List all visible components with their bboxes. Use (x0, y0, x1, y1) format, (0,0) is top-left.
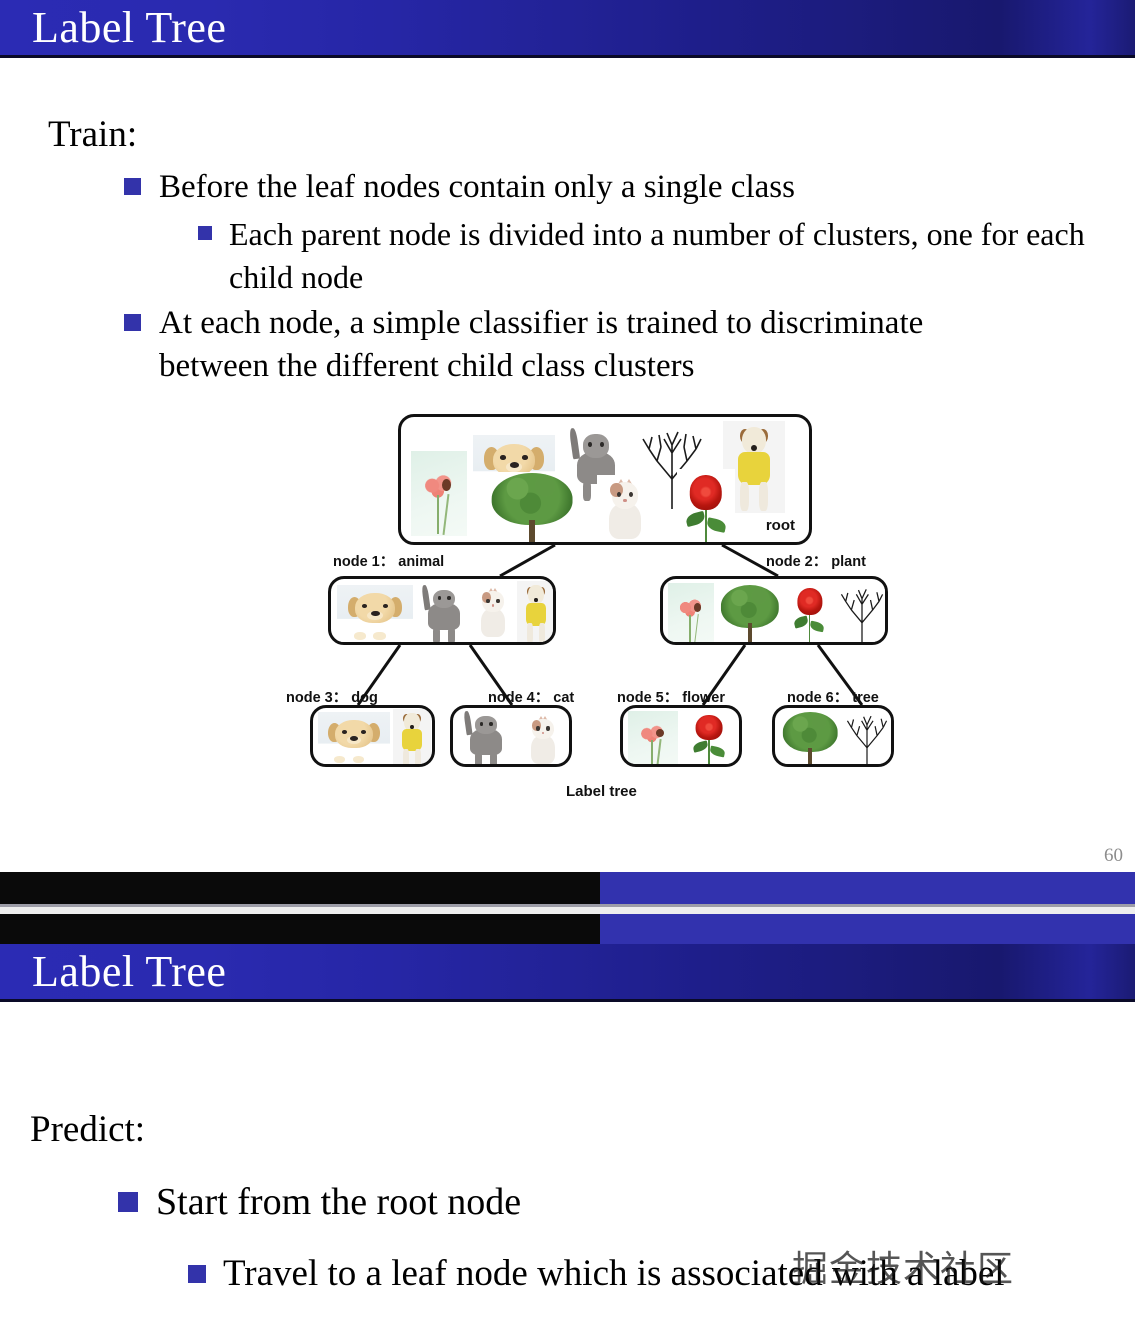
node-label-node3: node 3： dog (286, 686, 378, 707)
thumb-dog-yellow (393, 709, 431, 767)
slide-header-2: Label Tree (0, 944, 1135, 1002)
tree-node-root[interactable]: root (398, 414, 812, 545)
thumb-rose (685, 710, 733, 767)
thumb-dog (318, 712, 390, 766)
node-label-node6: node 6： tree (787, 686, 879, 707)
thumb-cat-white (521, 713, 565, 767)
tree-node-node1[interactable] (328, 576, 556, 645)
page-title: Label Tree (32, 0, 226, 56)
bullet-square-icon (198, 226, 212, 240)
thumb-green-tree (719, 584, 781, 643)
thumb-bare-tree (843, 710, 891, 767)
divider-blue-segment (600, 914, 1135, 945)
thumb-bare-tree (837, 583, 887, 644)
thumb-cat-grey (419, 582, 469, 645)
bullet-text: At each node, a simple classifier is tra… (159, 302, 1024, 388)
tree-node-node3[interactable] (310, 705, 435, 767)
bullet-text: Each parent node is divided into a numbe… (229, 213, 1128, 299)
thumb-dog (337, 585, 413, 643)
tree-node-node4[interactable] (450, 705, 572, 767)
thumb-cat-white (471, 585, 515, 642)
bullet-square-icon (118, 1192, 138, 1212)
bullet-square-icon (124, 314, 141, 331)
lead-predict: Predict: (30, 1108, 145, 1152)
slide-header-1: Label Tree (0, 0, 1135, 58)
slide-divider-band-bottom (0, 914, 1135, 945)
thumb-dog-yellow (517, 581, 555, 645)
bullet-text: Before the leaf nodes contain only a sin… (159, 166, 795, 209)
bullet-item: At each node, a simple classifier is tra… (124, 302, 1024, 388)
bullet-square-icon (188, 1265, 206, 1283)
figure-caption: Label tree (566, 783, 637, 800)
label-tree-figure: root node 1： animal node 2： plant (0, 395, 1135, 815)
page-number: 60 (1104, 845, 1123, 867)
root-tag-label: root (766, 517, 795, 534)
slide-divider-band-top (0, 872, 1135, 904)
node-label-node5: node 5： flower (617, 686, 725, 707)
lead-train: Train: (48, 113, 137, 157)
watermark-text: 掘金技术社区 (792, 1249, 1014, 1289)
bullet-item: Before the leaf nodes contain only a sin… (124, 166, 1104, 209)
thumb-green-tree (489, 472, 575, 544)
bare-tree-icon (837, 583, 887, 644)
thumb-rose (677, 469, 735, 545)
node-label-node1: node 1： animal (333, 550, 444, 571)
divider-dark-segment (0, 914, 600, 945)
thumb-rose (787, 583, 832, 644)
thumb-flower (411, 451, 467, 536)
bullet-item: Start from the root node (118, 1178, 1018, 1226)
page-title: Label Tree (32, 944, 226, 1000)
thumb-flower (628, 711, 678, 767)
thumb-flower (668, 583, 714, 644)
bare-tree-icon (843, 710, 891, 767)
tree-node-node6[interactable] (772, 705, 894, 767)
bullet-square-icon (124, 178, 141, 195)
node-label-node2: node 2： plant (766, 550, 866, 571)
thumb-cat-white (597, 475, 653, 545)
bullet-item: Each parent node is divided into a numbe… (198, 213, 1128, 299)
thumb-green-tree (781, 711, 839, 767)
tree-node-node2[interactable] (660, 576, 888, 645)
divider-blue-segment (600, 872, 1135, 904)
thumb-cat-grey (461, 709, 511, 767)
divider-dark-segment (0, 872, 600, 904)
bullet-text: Start from the root node (156, 1178, 521, 1226)
node-label-node4: node 4： cat (488, 686, 574, 707)
tree-node-node5[interactable] (620, 705, 742, 767)
